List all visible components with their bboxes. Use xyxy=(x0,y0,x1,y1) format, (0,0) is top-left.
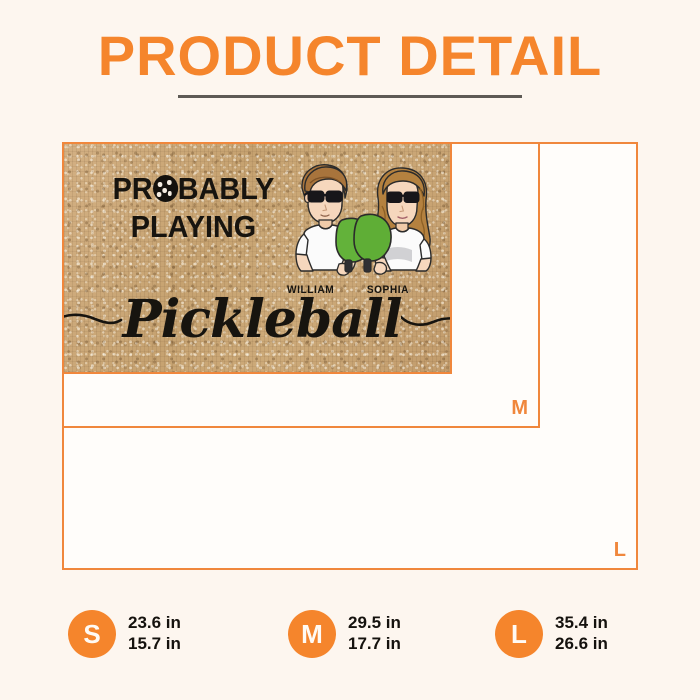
pickleball-icon xyxy=(153,175,178,202)
size-frame-label-m: M xyxy=(511,398,528,418)
headline-text-before: PR xyxy=(113,170,153,208)
size-height-m: 17.7 in xyxy=(348,634,401,655)
size-dimensions-l: 35.4 in 26.6 in xyxy=(555,613,608,654)
size-badge-s: S xyxy=(68,610,116,658)
doormat-preview-s: PR BABLY PLAYING xyxy=(62,142,452,374)
headline-line-2: PLAYING xyxy=(94,208,294,246)
page-title: PRODUCT DETAIL xyxy=(0,28,700,84)
size-legend: S 23.6 in 15.7 in M 29.5 in 17.7 in L 35… xyxy=(0,606,700,682)
size-dimensions-s: 23.6 in 15.7 in xyxy=(128,613,181,654)
headline-text-after: BABLY xyxy=(178,170,275,208)
size-badge-m: M xyxy=(288,610,336,658)
size-width-l: 35.4 in xyxy=(555,613,608,634)
script-word: Pickleball xyxy=(123,294,402,346)
doormat-headline: PR BABLY PLAYING xyxy=(86,170,301,246)
person-name-1: WILLIAM xyxy=(287,284,334,296)
size-height-s: 15.7 in xyxy=(128,634,181,655)
size-dimensions-m: 29.5 in 17.7 in xyxy=(348,613,401,654)
couple-illustration: WILLIAM SOPHIA xyxy=(279,158,444,298)
doormat-script-line: Pickleball xyxy=(64,294,452,346)
page-header: PRODUCT DETAIL xyxy=(0,28,700,98)
size-frame-label-l: L xyxy=(614,540,626,560)
size-height-l: 26.6 in xyxy=(555,634,608,655)
swash-right-icon xyxy=(401,307,452,333)
size-comparison-diagram: L M PR BABLY PLAYING xyxy=(62,142,640,572)
couple-svg xyxy=(279,158,444,298)
person-name-2: SOPHIA xyxy=(367,284,409,296)
size-width-s: 23.6 in xyxy=(128,613,181,634)
swash-left-icon xyxy=(62,307,123,333)
headline-line-1: PR BABLY xyxy=(94,170,294,208)
size-badge-l: L xyxy=(495,610,543,658)
legend-item-m: M 29.5 in 17.7 in xyxy=(288,610,401,658)
sunglasses-man xyxy=(305,191,342,202)
legend-item-l: L 35.4 in 26.6 in xyxy=(495,610,608,658)
size-width-m: 29.5 in xyxy=(348,613,401,634)
legend-item-s: S 23.6 in 15.7 in xyxy=(68,610,181,658)
title-underline xyxy=(178,95,522,98)
